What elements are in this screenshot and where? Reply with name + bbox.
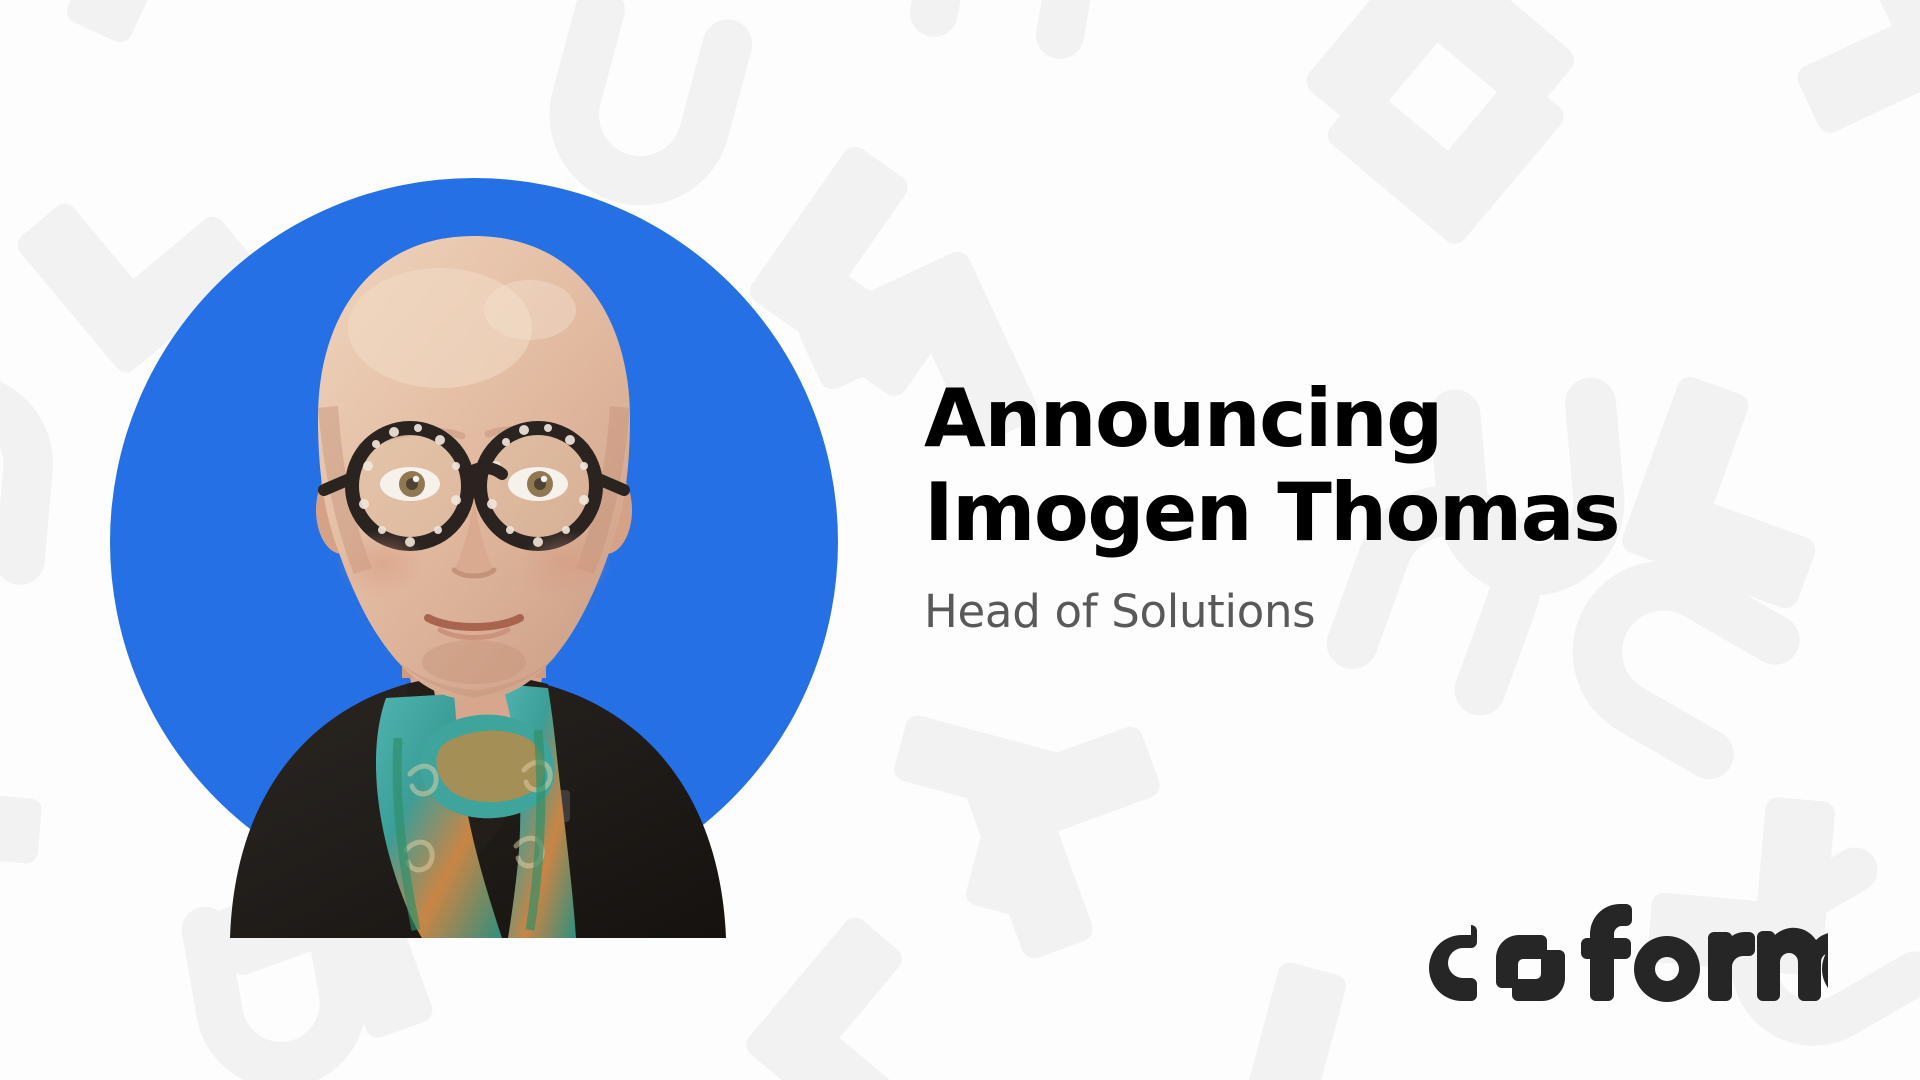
pattern-hook-shape	[934, 0, 1086, 35]
page-title: Announcing Imogen Thomas	[924, 372, 1824, 559]
announcement-text-block: Announcing Imogen Thomas Head of Solutio…	[924, 372, 1824, 639]
pattern-elbow-shape	[0, 0, 183, 30]
pattern-elbow-shape	[1320, 0, 1560, 190]
headline-line-1: Announcing	[924, 372, 1824, 466]
pattern-elbow-shape	[880, 727, 1058, 905]
job-title-subtitle: Head of Solutions	[924, 585, 1824, 639]
portrait-block	[110, 178, 838, 908]
pattern-elbow-shape	[759, 930, 970, 1080]
pattern-elbow-shape	[1764, 0, 1920, 120]
pattern-elbow-shape	[0, 798, 30, 950]
pattern-hook-shape	[0, 392, 34, 560]
headline-line-2: Imogen Thomas	[924, 466, 1824, 560]
pattern-elbow-shape	[1340, 20, 1551, 231]
coforma-logo	[1408, 900, 1828, 1020]
pattern-elbow-shape	[980, 740, 1185, 945]
portrait-photo	[110, 178, 838, 938]
pattern-hook-shape	[559, 10, 727, 196]
